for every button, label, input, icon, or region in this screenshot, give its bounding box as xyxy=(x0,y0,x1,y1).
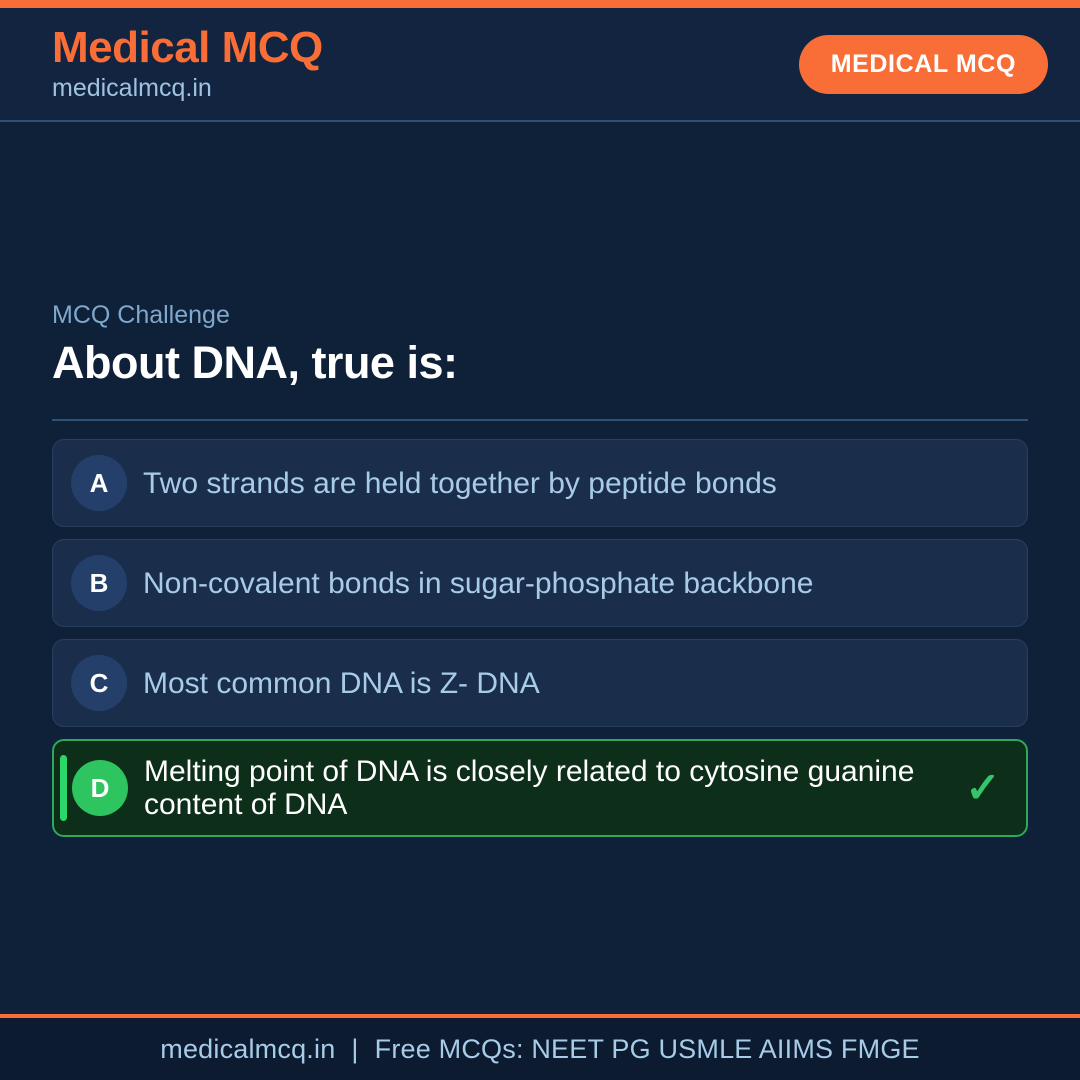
option-c-letter: C xyxy=(71,655,127,711)
checkmark-icon: ✓ xyxy=(960,767,1006,809)
option-d-letter: D xyxy=(72,760,128,816)
footer-site: medicalmcq.in xyxy=(160,1034,335,1064)
options-list: A Two strands are held together by pepti… xyxy=(52,439,1028,837)
option-d-text: Melting point of DNA is closely related … xyxy=(144,755,960,821)
option-b-letter: B xyxy=(71,555,127,611)
main-content: MCQ Challenge About DNA, true is: A Two … xyxy=(0,122,1080,1014)
question-block: MCQ Challenge About DNA, true is: xyxy=(52,299,1028,389)
mcq-slide: Medical MCQ medicalmcq.in MEDICAL MCQ MC… xyxy=(0,0,1080,1080)
option-a[interactable]: A Two strands are held together by pepti… xyxy=(52,439,1028,527)
footer: medicalmcq.in|Free MCQs: NEET PG USMLE A… xyxy=(0,1014,1080,1080)
option-c-text: Most common DNA is Z- DNA xyxy=(143,667,961,700)
footer-separator: | xyxy=(335,1034,374,1064)
brand: Medical MCQ medicalmcq.in xyxy=(52,25,323,103)
header: Medical MCQ medicalmcq.in MEDICAL MCQ xyxy=(0,8,1080,122)
divider xyxy=(52,419,1028,421)
option-b[interactable]: B Non-covalent bonds in sugar-phosphate … xyxy=(52,539,1028,627)
footer-text: medicalmcq.in|Free MCQs: NEET PG USMLE A… xyxy=(160,1034,919,1065)
header-badge: MEDICAL MCQ xyxy=(799,35,1048,94)
eyebrow-label: MCQ Challenge xyxy=(52,299,1028,332)
brand-title: Medical MCQ xyxy=(52,25,323,71)
option-d-correct[interactable]: D Melting point of DNA is closely relate… xyxy=(52,739,1028,837)
option-c[interactable]: C Most common DNA is Z- DNA xyxy=(52,639,1028,727)
brand-subtitle: medicalmcq.in xyxy=(52,73,323,103)
top-accent-bar xyxy=(0,0,1080,8)
question-text: About DNA, true is: xyxy=(52,337,1028,389)
option-b-text: Non-covalent bonds in sugar-phosphate ba… xyxy=(143,567,961,600)
option-a-letter: A xyxy=(71,455,127,511)
option-a-text: Two strands are held together by peptide… xyxy=(143,467,961,500)
footer-exams: Free MCQs: NEET PG USMLE AIIMS FMGE xyxy=(375,1034,920,1064)
correct-accent-bar xyxy=(60,755,67,821)
